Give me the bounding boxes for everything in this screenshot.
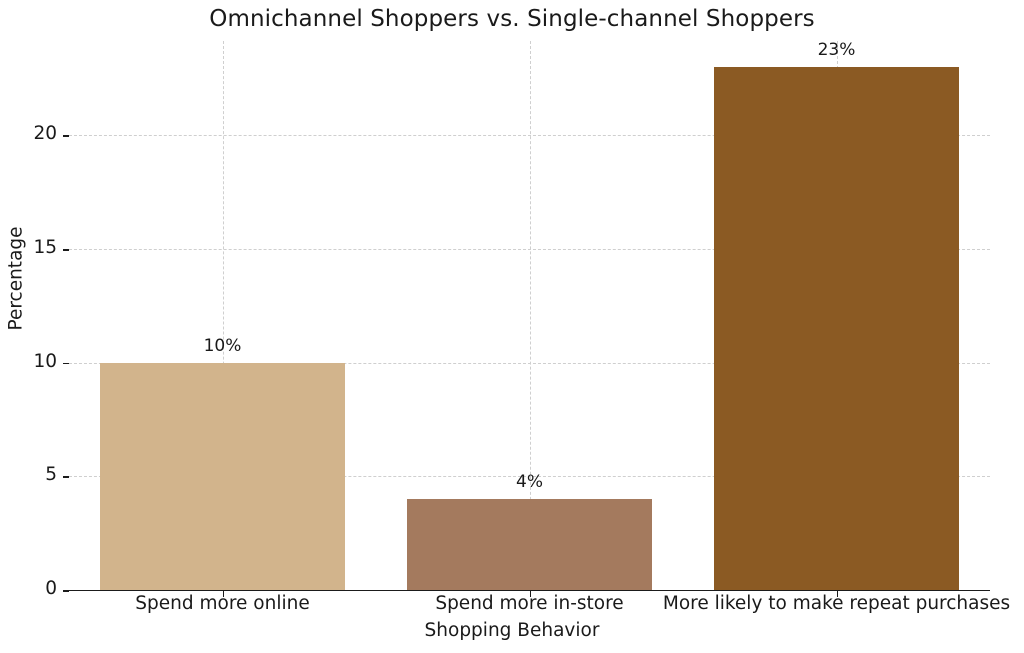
y-tick-mark <box>63 590 69 592</box>
y-tick-label: 0 <box>11 578 57 599</box>
y-tick-mark <box>63 249 69 251</box>
x-tick-label: Spend more online <box>135 593 309 614</box>
y-tick-label: 5 <box>11 464 57 485</box>
y-axis-title: Percentage <box>6 179 27 379</box>
plot-area <box>69 41 990 590</box>
bar[interactable] <box>714 67 960 590</box>
bar-chart-figure: Omnichannel Shoppers vs. Single-channel … <box>0 0 1024 653</box>
y-tick-mark <box>63 135 69 137</box>
bar-value-label: 10% <box>204 336 242 356</box>
bar-value-label: 23% <box>818 40 856 60</box>
y-tick-mark <box>63 476 69 478</box>
x-tick-label: Spend more in-store <box>435 593 623 614</box>
y-tick-mark <box>63 363 69 365</box>
x-tick-label: More likely to make repeat purchases <box>663 593 1010 614</box>
y-tick-label: 20 <box>11 123 57 144</box>
chart-title: Omnichannel Shoppers vs. Single-channel … <box>0 6 1024 32</box>
bar[interactable] <box>100 363 346 590</box>
bar[interactable] <box>407 499 653 590</box>
bar-value-label: 4% <box>516 472 543 492</box>
x-axis-title: Shopping Behavior <box>0 620 1024 641</box>
